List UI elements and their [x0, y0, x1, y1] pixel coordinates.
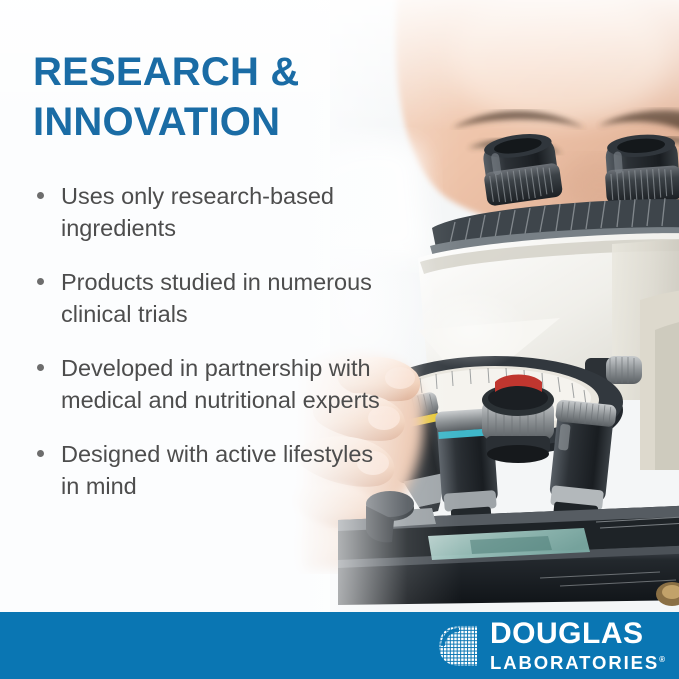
list-item-label: Products studied in numerous clinical tr… — [61, 266, 383, 330]
list-item-label: Uses only research-based ingredients — [61, 180, 383, 244]
logo-primary-text: DOUGLAS — [490, 618, 665, 648]
logo-secondary-text: LABORATORIES® — [490, 649, 665, 672]
page-title: RESEARCH & INNOVATION — [33, 47, 363, 147]
bullet-dot-icon — [37, 192, 44, 199]
list-item: Developed in partnership with medical an… — [33, 352, 383, 416]
feature-bullet-list: Uses only research-based ingredients Pro… — [33, 180, 383, 502]
halftone-circle-logo-icon — [437, 624, 481, 668]
list-item: Designed with active lifestyles in mind — [33, 438, 383, 502]
list-item-label: Developed in partnership with medical an… — [61, 352, 383, 416]
footer-brand-bar: DOUGLAS LABORATORIES® — [0, 612, 679, 679]
logo-secondary-label: LABORATORIES — [490, 652, 659, 673]
registered-trademark-icon: ® — [659, 654, 665, 663]
bullet-dot-icon — [37, 450, 44, 457]
douglas-laboratories-logo: DOUGLAS LABORATORIES® — [437, 618, 665, 672]
promo-card: RESEARCH & INNOVATION Uses only research… — [0, 0, 679, 679]
bullet-dot-icon — [37, 278, 44, 285]
list-item: Products studied in numerous clinical tr… — [33, 266, 383, 330]
list-item: Uses only research-based ingredients — [33, 180, 383, 244]
list-item-label: Designed with active lifestyles in mind — [61, 438, 383, 502]
logo-wordmark: DOUGLAS LABORATORIES® — [490, 618, 665, 672]
bullet-dot-icon — [37, 364, 44, 371]
page-title-line-1: RESEARCH & — [33, 47, 363, 97]
page-title-line-2: INNOVATION — [33, 97, 363, 147]
